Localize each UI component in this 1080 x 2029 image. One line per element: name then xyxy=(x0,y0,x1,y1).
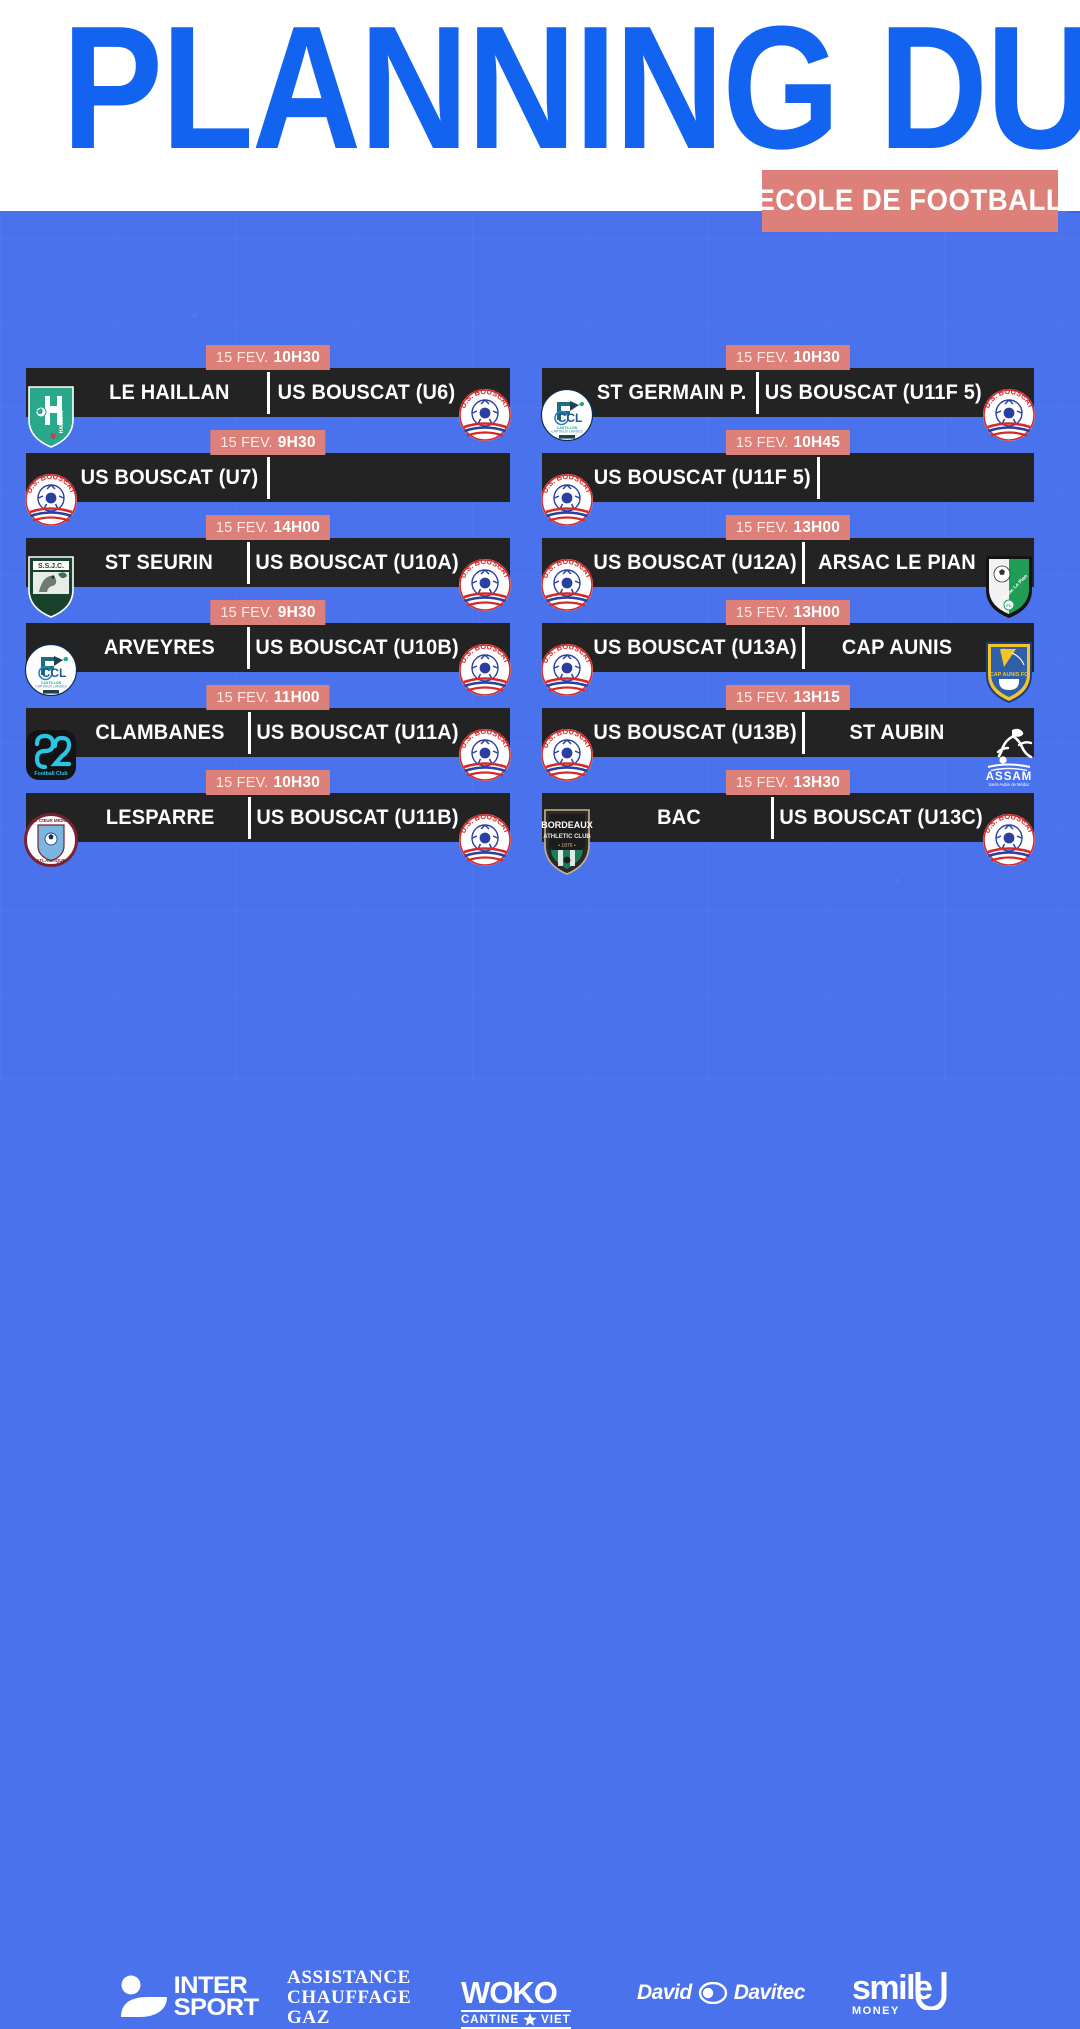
svg-text:CAPTIEUX LANDES: CAPTIEUX LANDES xyxy=(551,430,583,434)
us-bouscat-logo: U.S. BOUSCAT xyxy=(982,805,1036,875)
svg-text:• 1876 •: • 1876 • xyxy=(558,843,576,849)
match-home-side: U.S. BOUSCAT US BOUSCAT (U13A) xyxy=(542,623,802,672)
home-team-name: BAC xyxy=(657,806,701,830)
svg-text:CAP AUNIS FC: CAP AUNIS FC xyxy=(990,672,1028,678)
us-bouscat-logo: U.S. BOUSCAT xyxy=(540,635,594,705)
home-team-name: US BOUSCAT (U7) xyxy=(80,466,258,490)
match-date: 15 FEV. xyxy=(736,520,788,536)
us-bouscat-logo: U.S. BOUSCAT xyxy=(458,805,512,875)
sponsor-smile-money: smile MONEY xyxy=(852,1972,931,2017)
match-time: 9H30 xyxy=(278,434,316,452)
intersport-icon xyxy=(118,1975,170,2019)
match-time: 11H00 xyxy=(274,689,320,707)
sponsor-intersport: INTER SPORT xyxy=(118,1975,170,2024)
woko-tagline-left: CANTINE xyxy=(461,2014,519,2026)
st-seurin-logo: S.S.J.C. xyxy=(24,550,78,620)
away-team-name: US BOUSCAT (U11A) xyxy=(256,721,458,745)
match-date: 15 FEV. xyxy=(736,350,788,366)
home-team-name: ARVEYRES xyxy=(104,636,215,660)
away-team-name: ST AUBIN xyxy=(849,721,944,745)
smile-curve-icon xyxy=(882,1970,982,2010)
woko-tagline-right: VIET xyxy=(541,2014,571,2026)
bordeaux-athletic-club-logo: BORDEAUX ATHLETIC CLUB • 1876 • xyxy=(540,805,594,875)
match-datetime-badge: 15 FEV.13H00 xyxy=(726,515,850,540)
match-bar: U.S. BOUSCAT US BOUSCAT (U11F 5) xyxy=(542,453,1034,502)
match-date: 15 FEV. xyxy=(736,605,788,621)
svg-text:S.S.J.C.: S.S.J.C. xyxy=(38,563,64,570)
match-bar: BORDEAUX ATHLETIC CLUB • 1876 • BACUS BO… xyxy=(542,793,1034,842)
us-bouscat-logo: U.S. BOUSCAT xyxy=(458,380,512,450)
match-datetime-badge: 15 FEV.10H30 xyxy=(206,345,330,370)
match-date: 15 FEV. xyxy=(216,350,268,366)
woko-tagline: CANTINE VIET xyxy=(461,2010,571,2029)
star-icon xyxy=(523,2013,537,2026)
svg-text:ATLANTIQUE: ATLANTIQUE xyxy=(36,858,65,863)
match-date: 15 FEV. xyxy=(736,690,788,706)
svg-text:Saint-Aubin de Médoc: Saint-Aubin de Médoc xyxy=(988,782,1029,787)
match-row[interactable]: 15 FEV.14H00 S.S.J.C. ST SEURINUS BOUSCA… xyxy=(26,515,510,601)
match-row[interactable]: 15 FEV.13H30 BORDEAUX ATHLETIC CLUB • 18… xyxy=(542,770,1034,856)
david-part2: Davitec xyxy=(734,1981,805,2005)
match-home-side: U.S. BOUSCAT US BOUSCAT (U11F 5) xyxy=(542,453,817,502)
match-time: 10H30 xyxy=(793,349,840,367)
match-datetime-badge: 15 FEV.9H30 xyxy=(210,430,325,455)
us-bouscat-logo: U.S. BOUSCAT xyxy=(540,465,594,535)
match-bar: U.S. BOUSCAT US BOUSCAT (U13B)ST AUBIN A… xyxy=(542,708,1034,757)
match-date: 15 FEV. xyxy=(736,435,788,451)
away-team-name: US BOUSCAT (U13C) xyxy=(779,806,982,830)
match-away-side xyxy=(820,453,1034,502)
match-bar: HAILLAN LE HAILLANUS BOUSCAT (U6) U.S. B… xyxy=(26,368,510,417)
match-datetime-badge: 15 FEV.11H00 xyxy=(206,685,329,710)
match-date: 15 FEV. xyxy=(216,520,268,536)
away-team-name: CAP AUNIS xyxy=(841,636,951,660)
match-bar: CCL CASTILLON CAPTIEUX LANDES ST GERMAIN… xyxy=(542,368,1034,417)
match-time: 13H30 xyxy=(793,774,840,792)
match-away-side: US BOUSCAT (U11F 5) U.S. BOUSCAT xyxy=(759,368,1034,417)
match-away-side: CAP AUNIS CAP AUNIS FC xyxy=(805,623,1034,672)
match-home-side: BORDEAUX ATHLETIC CLUB • 1876 • BAC xyxy=(542,793,771,842)
match-row[interactable]: 15 FEV.11H00 Football ClubCLAMBANESUS BO… xyxy=(26,685,510,771)
arsac-le-pian-logo: Arsac Le Pian FC xyxy=(982,550,1036,620)
us-bouscat-logo: U.S. BOUSCAT xyxy=(982,380,1036,450)
match-away-side: US BOUSCAT (U13C) U.S. BOUSCAT xyxy=(774,793,1034,842)
match-datetime-badge: 15 FEV.13H00 xyxy=(726,600,850,625)
match-row[interactable]: 15 FEV.9H30 U.S. BOUSCAT US BOUSCAT (U7) xyxy=(26,430,510,516)
home-team-name: ST SEURIN xyxy=(105,551,213,575)
away-team-name: US BOUSCAT (U10B) xyxy=(255,636,458,660)
match-row[interactable]: 15 FEV.10H30 HAILLAN LE HAILLANUS BOUSCA… xyxy=(26,345,510,431)
away-team-name: US BOUSCAT (U11F 5) xyxy=(765,381,982,405)
svg-text:HAILLAN: HAILLAN xyxy=(59,410,65,433)
us-bouscat-logo: U.S. BOUSCAT xyxy=(540,550,594,620)
match-home-side: U.S. BOUSCAT US BOUSCAT (U13B) xyxy=(542,708,802,757)
match-datetime-badge: 15 FEV.13H30 xyxy=(726,770,850,795)
match-away-side: US BOUSCAT (U11A) U.S. BOUSCAT xyxy=(251,708,510,757)
david-part1: David xyxy=(637,1981,692,2005)
match-row[interactable]: 15 FEV.13H00 U.S. BOUSCAT US BOUSCAT (U1… xyxy=(542,515,1034,601)
match-bar: FC CŒUR MÉDOC ATLANTIQUELESPARREUS BOUSC… xyxy=(26,793,510,842)
match-away-side: US BOUSCAT (U10A) U.S. BOUSCAT xyxy=(250,538,510,587)
us-bouscat-logo: U.S. BOUSCAT xyxy=(458,635,512,705)
home-team-name: CLAMBANES xyxy=(95,721,224,745)
match-away-side: US BOUSCAT (U10B) U.S. BOUSCAT xyxy=(250,623,510,672)
match-date: 15 FEV. xyxy=(216,775,268,791)
subtitle-badge: ECOLE DE FOOTBALL xyxy=(762,170,1058,232)
ccl-logo: CCL CASTILLON CAPTIEUX LANDES xyxy=(24,635,78,705)
home-team-name: US BOUSCAT (U13B) xyxy=(593,721,796,745)
match-date: 15 FEV. xyxy=(216,690,268,706)
match-away-side xyxy=(270,453,511,502)
match-row[interactable]: 15 FEV.9H30 CCL CASTILLON CAPTIEUX LANDE… xyxy=(26,600,510,686)
coeur-medoc-logo: FC CŒUR MÉDOC ATLANTIQUE xyxy=(24,805,78,875)
woko-name: WOKO xyxy=(461,1978,571,2008)
cap-aunis-logo: CAP AUNIS FC xyxy=(982,635,1036,705)
svg-text:CCL: CCL xyxy=(42,666,67,680)
match-away-side: ST AUBIN ASSAM Saint-Aubin de Médoc xyxy=(805,708,1034,757)
match-home-side: FC CŒUR MÉDOC ATLANTIQUELESPARRE xyxy=(26,793,248,842)
match-time: 9H30 xyxy=(278,604,316,622)
match-date: 15 FEV. xyxy=(220,435,272,451)
us-bouscat-logo: U.S. BOUSCAT xyxy=(540,720,594,790)
match-row[interactable]: 15 FEV.13H15 U.S. BOUSCAT US BOUSCAT (U1… xyxy=(542,685,1034,771)
match-time: 10H30 xyxy=(273,774,320,792)
home-team-name: LESPARRE xyxy=(106,806,215,830)
us-bouscat-logo: U.S. BOUSCAT xyxy=(458,720,512,790)
match-datetime-badge: 15 FEV.9H30 xyxy=(210,600,325,625)
match-away-side: US BOUSCAT (U6) U.S. BOUSCAT xyxy=(270,368,511,417)
match-home-side: CCL CASTILLON CAPTIEUX LANDES ARVEYRES xyxy=(26,623,247,672)
home-team-name: US BOUSCAT (U13A) xyxy=(593,636,796,660)
match-time: 13H15 xyxy=(793,689,840,707)
svg-text:Football Club: Football Club xyxy=(34,771,67,777)
match-away-side: US BOUSCAT (U11B) U.S. BOUSCAT xyxy=(251,793,510,842)
match-home-side: CCL CASTILLON CAPTIEUX LANDES ST GERMAIN… xyxy=(542,368,756,417)
e2-logo: Football Club xyxy=(24,720,78,790)
match-row[interactable]: 15 FEV.10H30 CCL CASTILLON CAPTIEUX LAND… xyxy=(542,345,1034,431)
match-home-side: U.S. BOUSCAT US BOUSCAT (U12A) xyxy=(542,538,802,587)
sponsor-assistance-chauffage-gaz: ASSISTANCE CHAUFFAGE GAZ xyxy=(287,1968,411,2028)
sponsor-bar: INTER SPORT ASSISTANCE CHAUFFAGE GAZ WOK… xyxy=(0,975,1080,1070)
match-row[interactable]: 15 FEV.10H30 FC CŒUR MÉDOC ATLANTIQUELES… xyxy=(26,770,510,856)
ach-line2: CHAUFFAGE xyxy=(287,1988,411,2008)
match-datetime-badge: 15 FEV.13H15 xyxy=(726,685,850,710)
svg-text:ATHLETIC CLUB: ATHLETIC CLUB xyxy=(543,834,591,840)
match-date: 15 FEV. xyxy=(220,605,272,621)
match-datetime-badge: 15 FEV.10H45 xyxy=(726,430,850,455)
svg-text:CAPTIEUX LANDES: CAPTIEUX LANDES xyxy=(35,685,67,689)
match-date: 15 FEV. xyxy=(736,775,788,791)
match-datetime-badge: 15 FEV.10H30 xyxy=(726,345,850,370)
us-bouscat-logo: U.S. BOUSCAT xyxy=(24,465,78,535)
match-time: 10H30 xyxy=(273,349,320,367)
away-team-name: ARSAC LE PIAN xyxy=(818,551,976,575)
svg-text:CCL: CCL xyxy=(558,411,583,425)
match-bar: U.S. BOUSCAT US BOUSCAT (U13A)CAP AUNIS … xyxy=(542,623,1034,672)
david-swirl-icon xyxy=(696,1982,730,2004)
match-home-side: U.S. BOUSCAT US BOUSCAT (U7) xyxy=(26,453,267,502)
match-bar: CCL CASTILLON CAPTIEUX LANDES ARVEYRESUS… xyxy=(26,623,510,672)
match-bar: U.S. BOUSCAT US BOUSCAT (U7) xyxy=(26,453,510,502)
sponsor-david-davitec: David Davitec xyxy=(637,1981,805,2005)
match-time: 14H00 xyxy=(273,519,320,537)
svg-text:FC CŒUR MÉDOC: FC CŒUR MÉDOC xyxy=(32,818,71,823)
sponsor-woko: WOKO CANTINE VIET xyxy=(461,1978,571,2029)
match-datetime-badge: 15 FEV.14H00 xyxy=(206,515,330,540)
match-bar: S.S.J.C. ST SEURINUS BOUSCAT (U10A) U. xyxy=(26,538,510,587)
match-away-side: ARSAC LE PIAN Arsac Le Pian FC xyxy=(805,538,1034,587)
us-bouscat-logo: U.S. BOUSCAT xyxy=(458,550,512,620)
match-home-side: HAILLAN LE HAILLAN xyxy=(26,368,267,417)
away-team-name: US BOUSCAT (U10A) xyxy=(255,551,458,575)
home-team-name: US BOUSCAT (U12A) xyxy=(593,551,796,575)
le-haillan-logo: HAILLAN xyxy=(24,380,78,450)
match-row[interactable]: 15 FEV.13H00 U.S. BOUSCAT US BOUSCAT (U1… xyxy=(542,600,1034,686)
match-time: 10H45 xyxy=(793,434,840,452)
ach-line1: ASSISTANCE xyxy=(287,1968,411,1988)
match-home-side: S.S.J.C. ST SEURIN xyxy=(26,538,247,587)
match-bar: U.S. BOUSCAT US BOUSCAT (U12A)ARSAC LE P… xyxy=(542,538,1034,587)
assam-logo: ASSAM Saint-Aubin de Médoc xyxy=(982,720,1036,790)
svg-text:FC: FC xyxy=(1006,603,1011,608)
home-team-name: ST GERMAIN P. xyxy=(597,381,747,405)
intersport-line2: SPORT xyxy=(174,1997,259,2019)
home-team-name: US BOUSCAT (U11F 5) xyxy=(594,466,811,490)
ach-line3: GAZ xyxy=(287,2008,411,2028)
home-team-name: LE HAILLAN xyxy=(109,381,229,405)
match-home-side: Football ClubCLAMBANES xyxy=(26,708,248,757)
away-team-name: US BOUSCAT (U6) xyxy=(278,381,456,405)
match-list: 15 FEV.10H30 HAILLAN LE HAILLANUS BOUSCA… xyxy=(0,0,1080,1080)
match-time: 13H00 xyxy=(793,519,840,537)
away-team-name: US BOUSCAT (U11B) xyxy=(256,806,458,830)
intersport-line1: INTER xyxy=(174,1975,259,1997)
match-bar: Football ClubCLAMBANESUS BOUSCAT (U11A) … xyxy=(26,708,510,757)
match-datetime-badge: 15 FEV.10H30 xyxy=(206,770,330,795)
svg-text:BORDEAUX: BORDEAUX xyxy=(541,820,593,830)
subtitle-label: ECOLE DE FOOTBALL xyxy=(757,184,1064,218)
match-row[interactable]: 15 FEV.10H45 U.S. BOUSCAT US BOUSCAT (U1… xyxy=(542,430,1034,516)
match-time: 13H00 xyxy=(793,604,840,622)
ccl-logo: CCL CASTILLON CAPTIEUX LANDES xyxy=(540,380,594,450)
